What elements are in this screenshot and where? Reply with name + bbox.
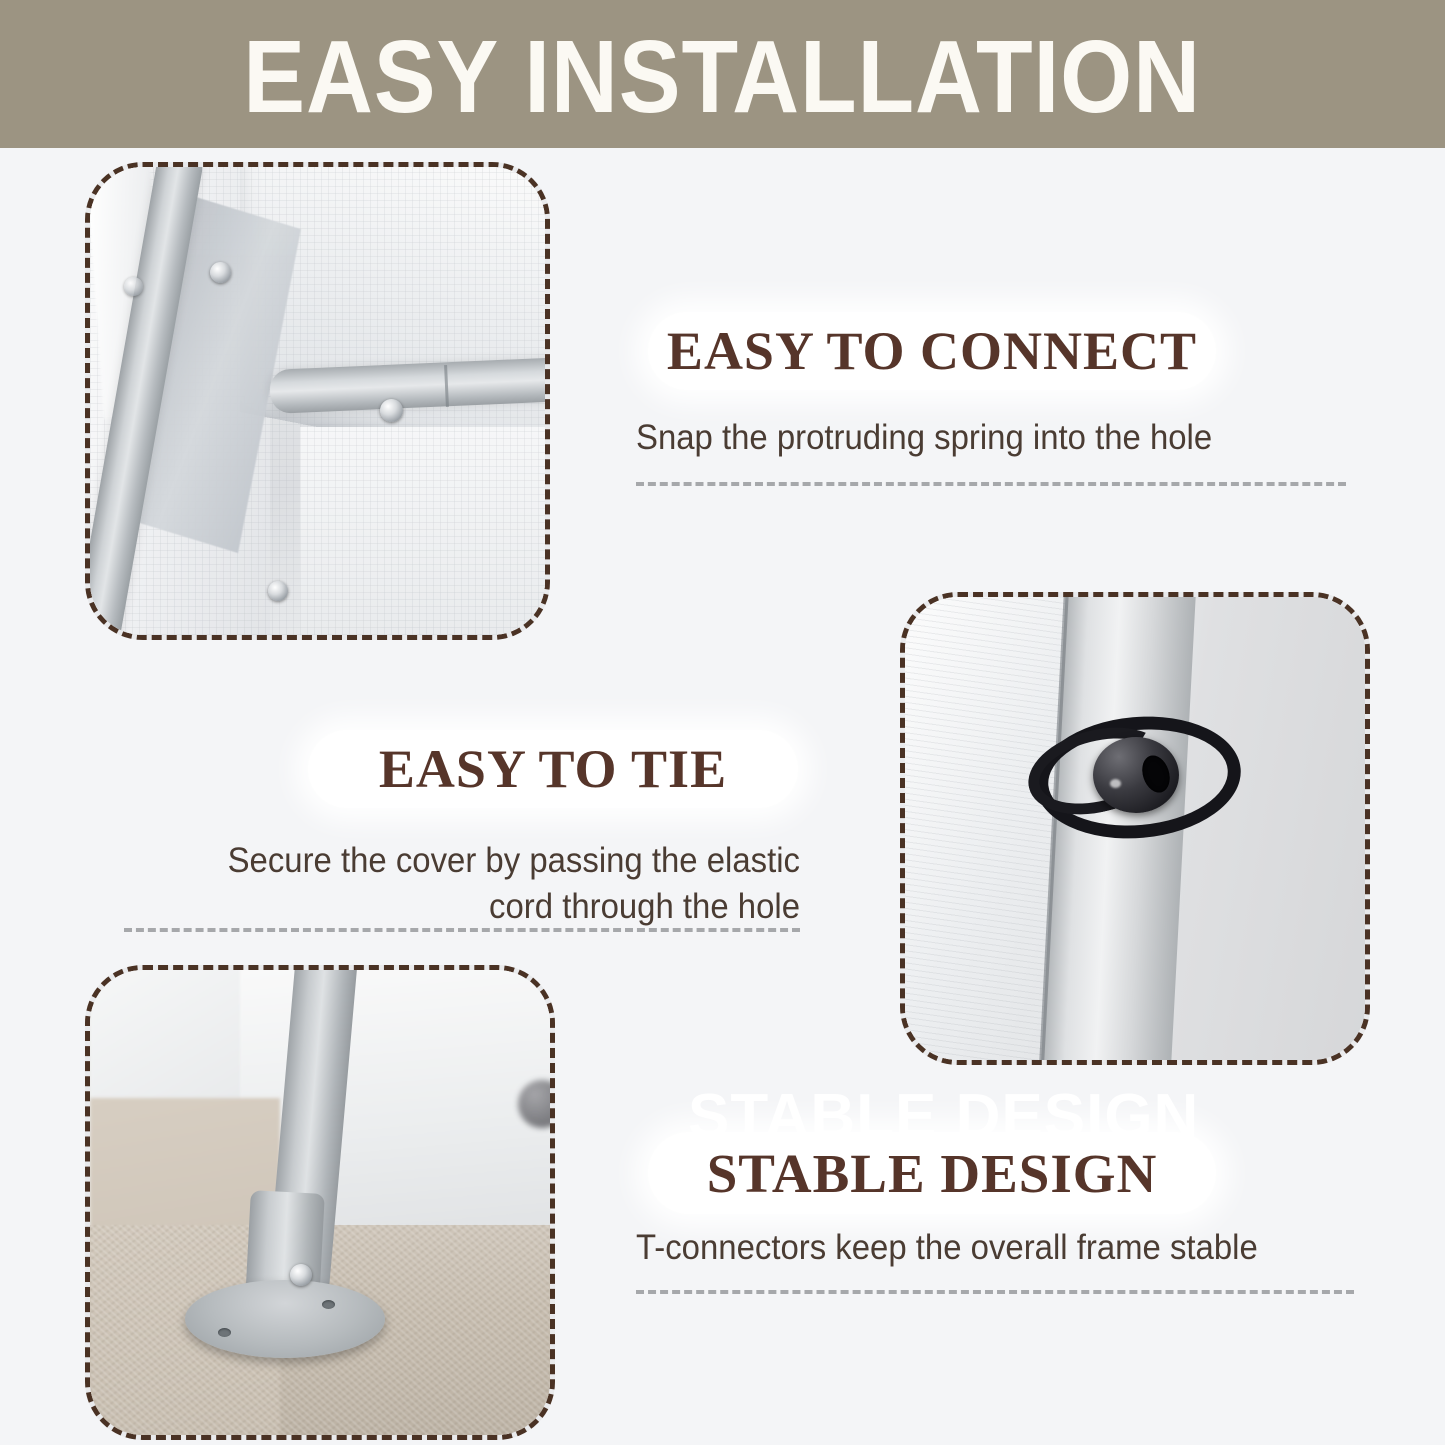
spring-button-top — [210, 262, 231, 283]
base-foot-plate — [185, 1280, 385, 1358]
divider-connect — [636, 482, 1346, 486]
feature-photo-tie — [900, 592, 1370, 1065]
base-bolt-hole-left — [218, 1328, 231, 1337]
photo-connect-content — [90, 167, 545, 635]
base-bolt-hole-right — [322, 1300, 335, 1309]
heading-connect: EASY TO CONNECT — [667, 324, 1197, 378]
description-tie: Secure the cover by passing the elastic … — [161, 838, 800, 930]
description-stable: T-connectors keep the overall frame stab… — [636, 1225, 1294, 1271]
photo-stable-content — [90, 970, 550, 1435]
feature-photo-stable — [85, 965, 555, 1440]
heading-pill-tie: EASY TO TIE — [308, 730, 798, 808]
divider-tie — [124, 928, 800, 932]
header-banner: EASY INSTALLATION — [0, 0, 1445, 148]
heading-pill-stable: STABLE DESIGN — [648, 1132, 1216, 1214]
page-title: EASY INSTALLATION — [244, 25, 1202, 128]
heading-tie: EASY TO TIE — [379, 742, 727, 796]
description-connect: Snap the protruding spring into the hole — [636, 415, 1294, 461]
heading-stable: STABLE DESIGN — [707, 1146, 1158, 1201]
grommet-left — [124, 277, 143, 296]
photo-tie-content — [905, 597, 1365, 1060]
pole-locking-screw — [290, 1264, 312, 1286]
heading-pill-connect: EASY TO CONNECT — [648, 312, 1216, 390]
spring-button-bottom — [268, 581, 288, 601]
ball-highlight — [1110, 779, 1121, 788]
spring-button-mid — [380, 399, 403, 422]
divider-stable — [636, 1290, 1354, 1294]
feature-photo-connect — [85, 162, 550, 640]
